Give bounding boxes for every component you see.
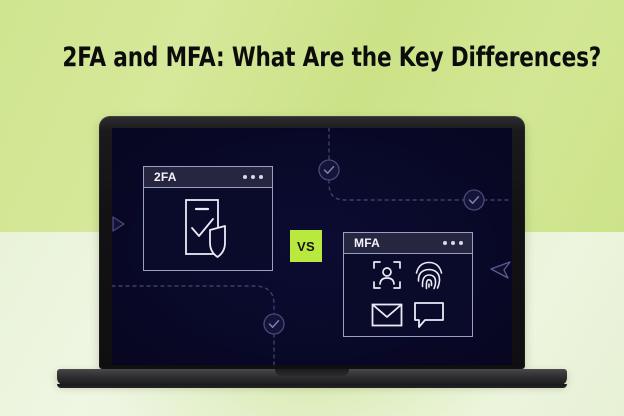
window-mfa-body: [344, 254, 472, 336]
flow-node-check-2: [464, 190, 484, 210]
window-2fa-body: [144, 188, 272, 270]
window-2fa-titlebar: 2FA: [144, 167, 272, 188]
face-scan-icon: [371, 259, 403, 291]
page-title: 2FA and MFA: What Are the Key Difference…: [62, 44, 561, 72]
window-2fa[interactable]: 2FA: [143, 166, 273, 271]
document-check-shield-icon: [180, 196, 236, 262]
window-2fa-title: 2FA: [154, 170, 177, 184]
window-mfa[interactable]: MFA: [343, 232, 473, 337]
window-mfa-title: MFA: [354, 236, 380, 250]
mfa-icon-grid: [370, 258, 446, 332]
window-2fa-menu-dots-icon[interactable]: [243, 175, 263, 179]
illustration-scene: 2FA and MFA: What Are the Key Difference…: [0, 0, 624, 416]
laptop-base: [57, 369, 567, 385]
vs-badge-label: VS: [297, 239, 315, 254]
window-mfa-menu-dots-icon[interactable]: [443, 241, 463, 245]
fingerprint-icon: [413, 259, 445, 291]
cursor-marker-right-icon: [491, 262, 510, 278]
window-mfa-titlebar: MFA: [344, 233, 472, 254]
flow-node-check-1: [319, 160, 339, 180]
envelope-icon: [371, 302, 403, 328]
flow-node-check-3: [264, 314, 284, 334]
play-marker-left-icon: [113, 217, 124, 231]
vs-badge: VS: [290, 230, 322, 262]
speech-bubble-icon: [413, 301, 445, 329]
